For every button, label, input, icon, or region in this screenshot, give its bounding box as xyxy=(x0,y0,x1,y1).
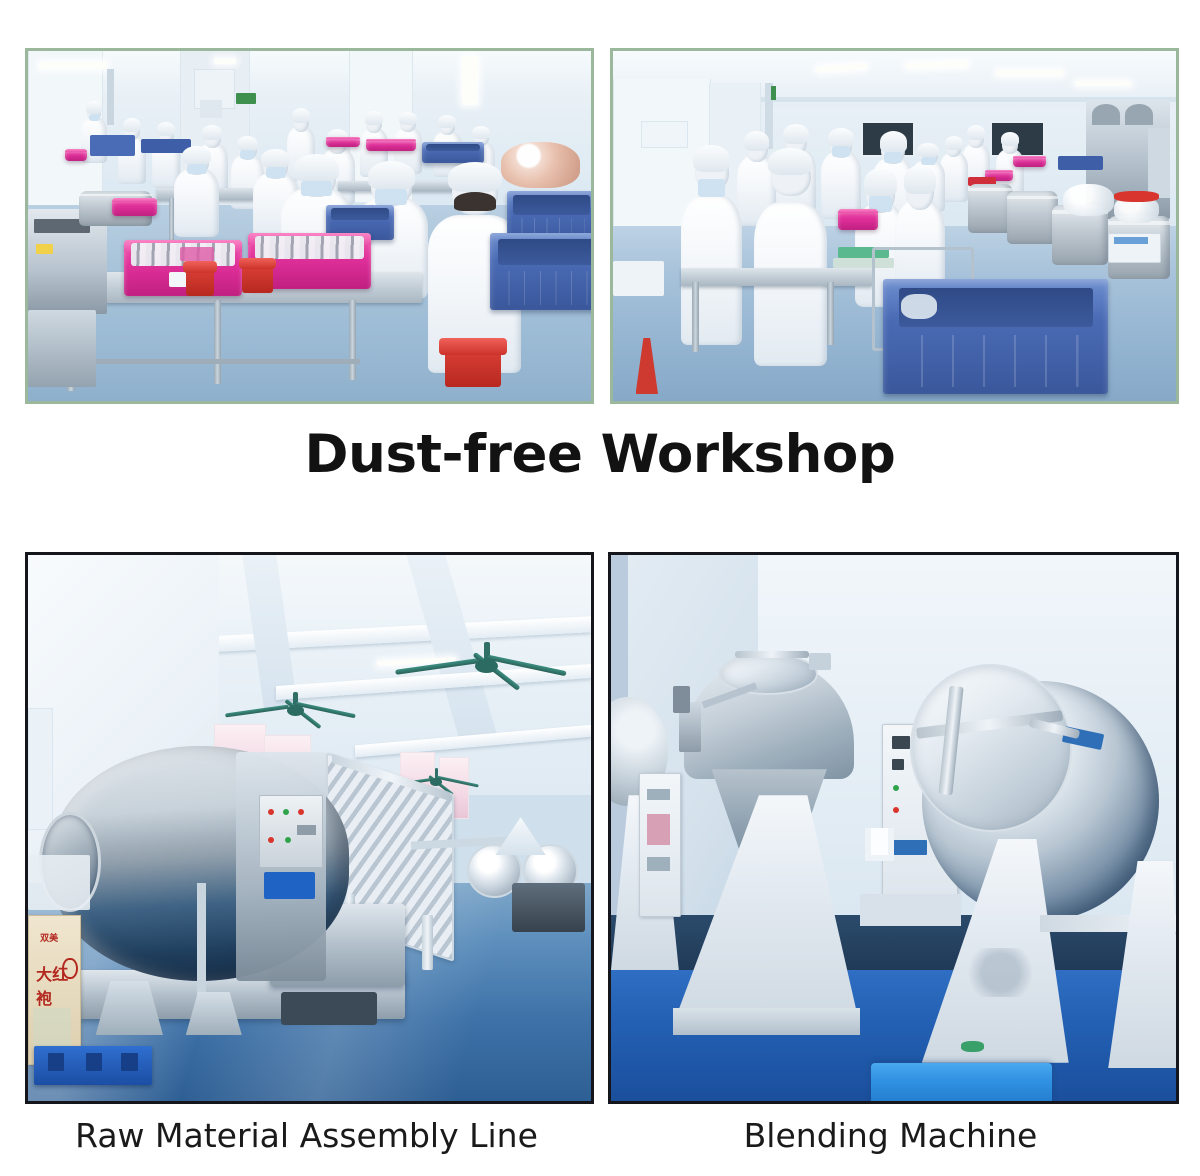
worker-foreground xyxy=(754,156,827,366)
blue-crate xyxy=(871,1063,1052,1101)
ceiling-fan xyxy=(259,692,332,736)
photo-cleanroom-assembly xyxy=(610,48,1179,404)
caption-blending-machine: Blending Machine xyxy=(608,1116,1173,1156)
product-carton: 双美 大红袍 xyxy=(28,915,81,1064)
product-gallery-page: Dust-free Workshop xyxy=(0,0,1200,1176)
cleanroom-packing-scene xyxy=(28,51,591,401)
assembly-line-scene: 双美 大红袍 xyxy=(28,555,591,1101)
blending-machine-scene xyxy=(611,555,1176,1101)
caption-raw-material-assembly-line: Raw Material Assembly Line xyxy=(25,1116,588,1156)
cleanroom-assembly-scene xyxy=(613,51,1176,401)
control-panel[interactable] xyxy=(259,795,323,868)
page-title: Dust-free Workshop xyxy=(0,424,1200,486)
blue-pallet xyxy=(34,1046,152,1084)
ceiling-fan xyxy=(439,642,535,697)
photo-blending-machine xyxy=(608,552,1179,1104)
photo-cleanroom-packing xyxy=(25,48,594,404)
photo-raw-material-assembly-line: 双美 大红袍 xyxy=(25,552,594,1104)
blue-tote-crate xyxy=(883,279,1108,395)
worker-foreground xyxy=(681,153,743,346)
